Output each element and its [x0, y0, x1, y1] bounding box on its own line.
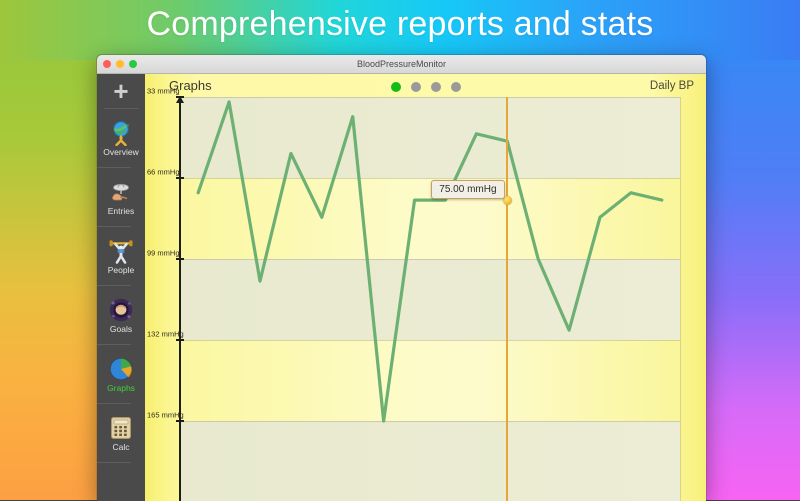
pager-dot-2[interactable] — [411, 82, 421, 92]
window-controls[interactable] — [103, 60, 137, 68]
sidebar-item-label: Calc — [112, 443, 129, 452]
chart-plot-area[interactable]: 75.00 mmHg — [179, 97, 681, 501]
y-axis-tick — [176, 420, 184, 422]
sidebar-item-label: Goals — [110, 325, 132, 334]
sidebar: + Overview Entries People — [97, 74, 145, 501]
sidebar-item-people[interactable]: People — [97, 227, 145, 285]
sidebar-item-entries[interactable]: Entries — [97, 168, 145, 226]
sidebar-item-label: Graphs — [107, 384, 135, 393]
app-window: BloodPressureMonitor + Overview Entries — [96, 54, 707, 501]
pager-dot-1[interactable] — [391, 82, 401, 92]
chart-y-axis — [179, 97, 181, 501]
plus-icon: + — [113, 78, 128, 104]
sidebar-items: Overview Entries People Goals — [97, 109, 145, 463]
sidebar-item-label: People — [108, 266, 134, 275]
y-axis-tick-label: 132 mmHg — [147, 330, 184, 339]
hand-entry-icon — [108, 179, 134, 205]
promo-banner-text: Comprehensive reports and stats — [146, 5, 653, 44]
pager-dot-4[interactable] — [451, 82, 461, 92]
y-axis-tick-label: 99 mmHg — [147, 249, 180, 258]
chart-line-series — [180, 97, 680, 501]
window-body: + Overview Entries People — [97, 74, 706, 501]
window-titlebar: BloodPressureMonitor — [97, 55, 706, 74]
sidebar-item-graphs[interactable]: Graphs — [97, 345, 145, 403]
target-icon — [108, 297, 134, 323]
y-axis-tick-label: 165 mmHg — [147, 411, 184, 420]
chart-container: 75.00 mmHg 33 mmHg66 mmHg99 mmHg132 mmHg… — [179, 97, 681, 501]
y-axis-tick — [176, 258, 184, 260]
content-area: Graphs Daily BP 75.00 mmHg — [145, 74, 706, 501]
sidebar-item-calc[interactable]: Calc — [97, 404, 145, 462]
add-entry-button[interactable]: + — [97, 74, 145, 108]
sidebar-item-label: Entries — [108, 207, 134, 216]
weightlifter-icon — [108, 238, 134, 264]
chart-tooltip: 75.00 mmHg — [431, 180, 504, 199]
window-title: BloodPressureMonitor — [357, 59, 446, 69]
y-axis-tick-label: 33 mmHg — [147, 87, 180, 96]
page-pager[interactable] — [391, 82, 461, 92]
promo-banner: Comprehensive reports and stats — [0, 0, 800, 48]
y-axis-tick — [176, 177, 184, 179]
minimize-button[interactable] — [116, 60, 124, 68]
y-axis-tick — [176, 96, 184, 98]
zoom-button[interactable] — [129, 60, 137, 68]
sidebar-item-label: Overview — [103, 148, 138, 157]
chart-crosshair — [506, 97, 508, 501]
close-button[interactable] — [103, 60, 111, 68]
sidebar-item-goals[interactable]: Goals — [97, 286, 145, 344]
y-axis-tick-label: 66 mmHg — [147, 168, 180, 177]
pie-chart-icon — [108, 356, 134, 382]
calculator-icon — [108, 415, 134, 441]
globe-icon — [108, 120, 134, 146]
y-axis-tick — [176, 339, 184, 341]
graph-type-label: Daily BP — [650, 80, 694, 92]
pager-dot-3[interactable] — [431, 82, 441, 92]
sidebar-divider — [97, 462, 131, 463]
sidebar-item-overview[interactable]: Overview — [97, 109, 145, 167]
